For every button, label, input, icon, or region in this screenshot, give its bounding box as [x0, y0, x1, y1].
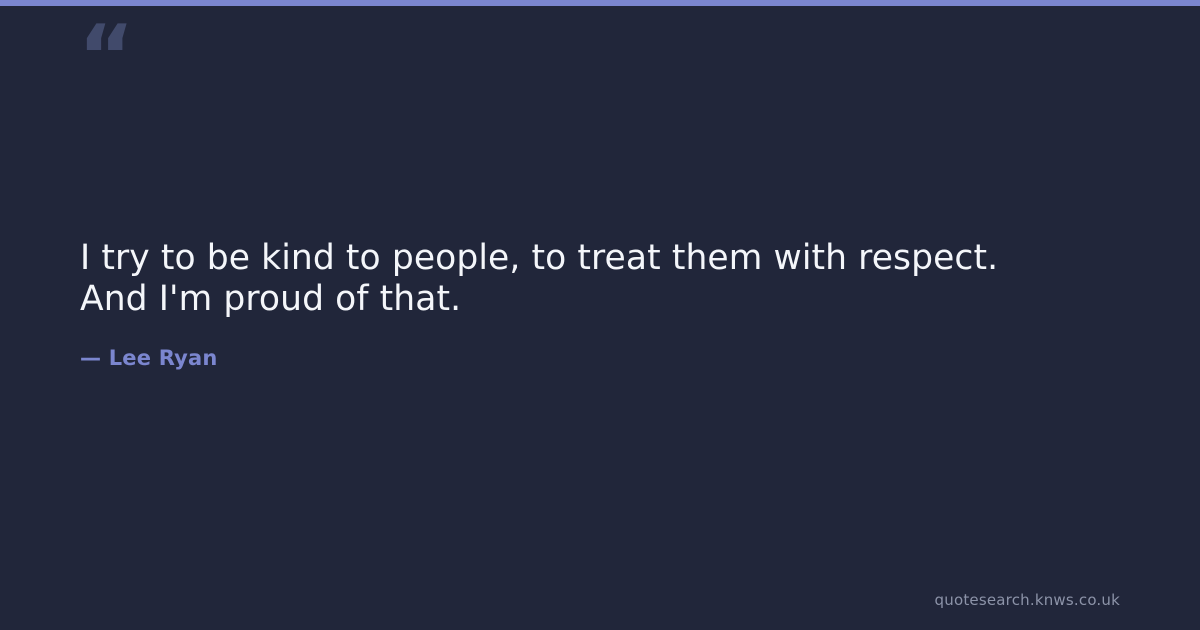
source-url-watermark: quotesearch.knws.co.uk — [935, 591, 1120, 609]
quote-line: I try to be kind to people, to treat the… — [80, 238, 1090, 279]
quote-line: And I'm proud of that. — [80, 279, 1090, 320]
attribution-author-name: Lee Ryan — [109, 345, 218, 371]
quote-card: “ I try to be kind to people, to treat t… — [0, 0, 1200, 630]
quote-text-block: I try to be kind to people, to treat the… — [80, 238, 1090, 320]
attribution-em-dash: — — [80, 345, 109, 371]
quote-attribution: — Lee Ryan — [80, 345, 218, 371]
left-double-quotation-mark-icon: “ — [78, 14, 133, 100]
top-accent-bar — [0, 0, 1200, 6]
